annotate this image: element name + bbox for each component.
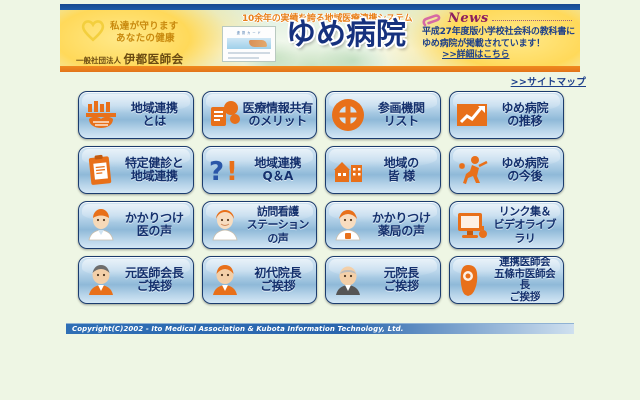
site-header: 私達が守ります あなたの健康 一般社団法人 伊都医師会 10余年の実績を誇る地域… xyxy=(60,4,580,72)
paperclip-icon xyxy=(422,13,442,27)
nav-button-label: 元医師会長 ご挨拶 xyxy=(119,267,193,294)
svg-text:!: ! xyxy=(226,157,238,187)
card-band xyxy=(227,38,271,49)
nav-button-label: リンク集＆ ビデオライブラリ xyxy=(490,205,564,246)
button-row: 特定健診と 地域連携 ? ! 地域連携 Q＆A xyxy=(78,146,564,194)
senior-man-photo-icon xyxy=(330,262,366,298)
nav-button-info-sharing-merit[interactable]: 医療情報共有 のメリット xyxy=(202,91,318,139)
nav-button-label: ゆめ病院 の今後 xyxy=(490,157,564,184)
nurse-portrait-icon xyxy=(207,207,243,243)
nav-button-first-director-greeting[interactable]: 初代院長 ご挨拶 xyxy=(202,256,318,304)
organization-name: 伊都医師会 xyxy=(124,52,184,66)
nav-button-label: 地域連携 とは xyxy=(119,102,193,129)
nav-button-family-doctor-voice[interactable]: かかりつけ 医の声 xyxy=(78,201,194,249)
copyright-text: Copyright(C)2002 - Ito Medical Associati… xyxy=(72,325,403,333)
navigation-button-grid: 地域連携 とは 医療情報共有 のメリット xyxy=(78,91,564,311)
news-body: 平成27年度版小学校社会科の教科書にゆめ病院が掲載されています！>>詳細はこちら xyxy=(422,27,578,62)
nav-button-label: 地域連携 Q＆A xyxy=(243,157,317,184)
header-banner: 私達が守ります あなたの健康 一般社団法人 伊都医師会 10余年の実績を誇る地域… xyxy=(60,10,580,66)
nav-button-label: 訪問看護 ステーションの声 xyxy=(243,205,317,246)
button-row: 地域連携 とは 医療情報共有 のメリット xyxy=(78,91,564,139)
nav-button-label: 医療情報共有 のメリット xyxy=(243,102,317,129)
nav-button-qanda[interactable]: ? ! 地域連携 Q＆A xyxy=(202,146,318,194)
nav-button-regional-cooperation[interactable]: 地域連携 とは xyxy=(78,91,194,139)
medical-caduceus-icon xyxy=(330,97,366,133)
card-line-2 xyxy=(228,57,259,59)
svg-text:?: ? xyxy=(209,157,224,187)
nav-button-label: 元院長 ご挨拶 xyxy=(366,267,440,294)
nav-button-links-video-library[interactable]: リンク集＆ ビデオライブラリ xyxy=(449,201,565,249)
news-detail-link[interactable]: >>詳細はこちら xyxy=(442,50,509,60)
handshake-community-icon xyxy=(83,97,119,133)
clipboard-checkup-icon xyxy=(83,152,119,188)
nav-button-visiting-nurse-voice[interactable]: 訪問看護 ステーションの声 xyxy=(202,201,318,249)
question-exclamation-icon: ? ! xyxy=(207,152,243,188)
nav-button-pharmacy-voice[interactable]: かかりつけ 薬局の声 xyxy=(325,201,441,249)
nav-button-former-association-head-greeting[interactable]: 元医師会長 ご挨拶 xyxy=(78,256,194,304)
card-line-1 xyxy=(228,52,270,54)
pharmacist-portrait-icon xyxy=(330,207,366,243)
nav-button-participating-list[interactable]: 参画機関 リスト xyxy=(325,91,441,139)
news-body-text: 平成27年度版小学校社会科の教科書にゆめ病院が掲載されています！ xyxy=(422,27,575,49)
news-dotted-rule xyxy=(492,20,572,21)
nav-button-community-people[interactable]: 地域の 皆 様 xyxy=(325,146,441,194)
map-pin-region-icon xyxy=(454,262,490,298)
organization-prefix: 一般社団法人 xyxy=(76,56,124,65)
nav-button-label: 初代院長 ご挨拶 xyxy=(243,267,317,294)
header-center-block: 10余年の実績を誇る地域医療連携システム 連 携 カ ー ド ゆめ病院 xyxy=(200,10,450,66)
nav-button-label: 連携医師会 五條市医師会長 ご挨拶 xyxy=(490,257,564,303)
nav-button-gojo-association-head-greeting[interactable]: 連携医師会 五條市医師会長 ご挨拶 xyxy=(449,256,565,304)
news-label: News xyxy=(448,11,489,26)
future-runner-icon xyxy=(454,152,490,188)
header-bottom-bar xyxy=(60,66,580,72)
sitemap-link[interactable]: >>サイトマップ xyxy=(511,74,586,88)
header-news-block: News 平成27年度版小学校社会科の教科書にゆめ病院が掲載されています！>>詳… xyxy=(418,10,578,66)
cooperation-card-image: 連 携 カ ー ド xyxy=(222,26,276,62)
nav-button-label: 地域の 皆 様 xyxy=(366,157,440,184)
site-title: ゆめ病院 xyxy=(286,18,406,52)
medical-records-icon xyxy=(207,97,243,133)
nav-button-label: 特定健診と 地域連携 xyxy=(119,157,193,184)
growth-chart-icon xyxy=(454,97,490,133)
card-caption: 連 携 カ ー ド xyxy=(223,30,275,35)
nav-button-label: 参画機関 リスト xyxy=(366,102,440,129)
button-row: 元医師会長 ご挨拶 初代院長 ご挨拶 xyxy=(78,256,564,304)
header-slogan-line2: あなたの健康 xyxy=(116,30,175,44)
doctor-portrait-icon xyxy=(83,207,119,243)
nav-button-hospital-future[interactable]: ゆめ病院 の今後 xyxy=(449,146,565,194)
heart-icon xyxy=(80,18,106,42)
man-photo-icon xyxy=(207,262,243,298)
nav-button-label: ゆめ病院 の推移 xyxy=(490,102,564,129)
nav-button-label: かかりつけ 薬局の声 xyxy=(366,212,440,239)
computer-monitor-icon xyxy=(454,207,490,243)
elder-man-photo-icon xyxy=(83,262,119,298)
header-organization: 一般社団法人 伊都医師会 xyxy=(76,48,184,66)
nav-button-former-director-greeting[interactable]: 元院長 ご挨拶 xyxy=(325,256,441,304)
nav-button-label: かかりつけ 医の声 xyxy=(119,212,193,239)
button-row: かかりつけ 医の声 訪問看護 ステーションの声 xyxy=(78,201,564,249)
footer-bar: Copyright(C)2002 - Ito Medical Associati… xyxy=(66,323,574,334)
nav-button-hospital-trend[interactable]: ゆめ病院 の推移 xyxy=(449,91,565,139)
townscape-icon xyxy=(330,152,366,188)
nav-button-specific-checkup[interactable]: 特定健診と 地域連携 xyxy=(78,146,194,194)
